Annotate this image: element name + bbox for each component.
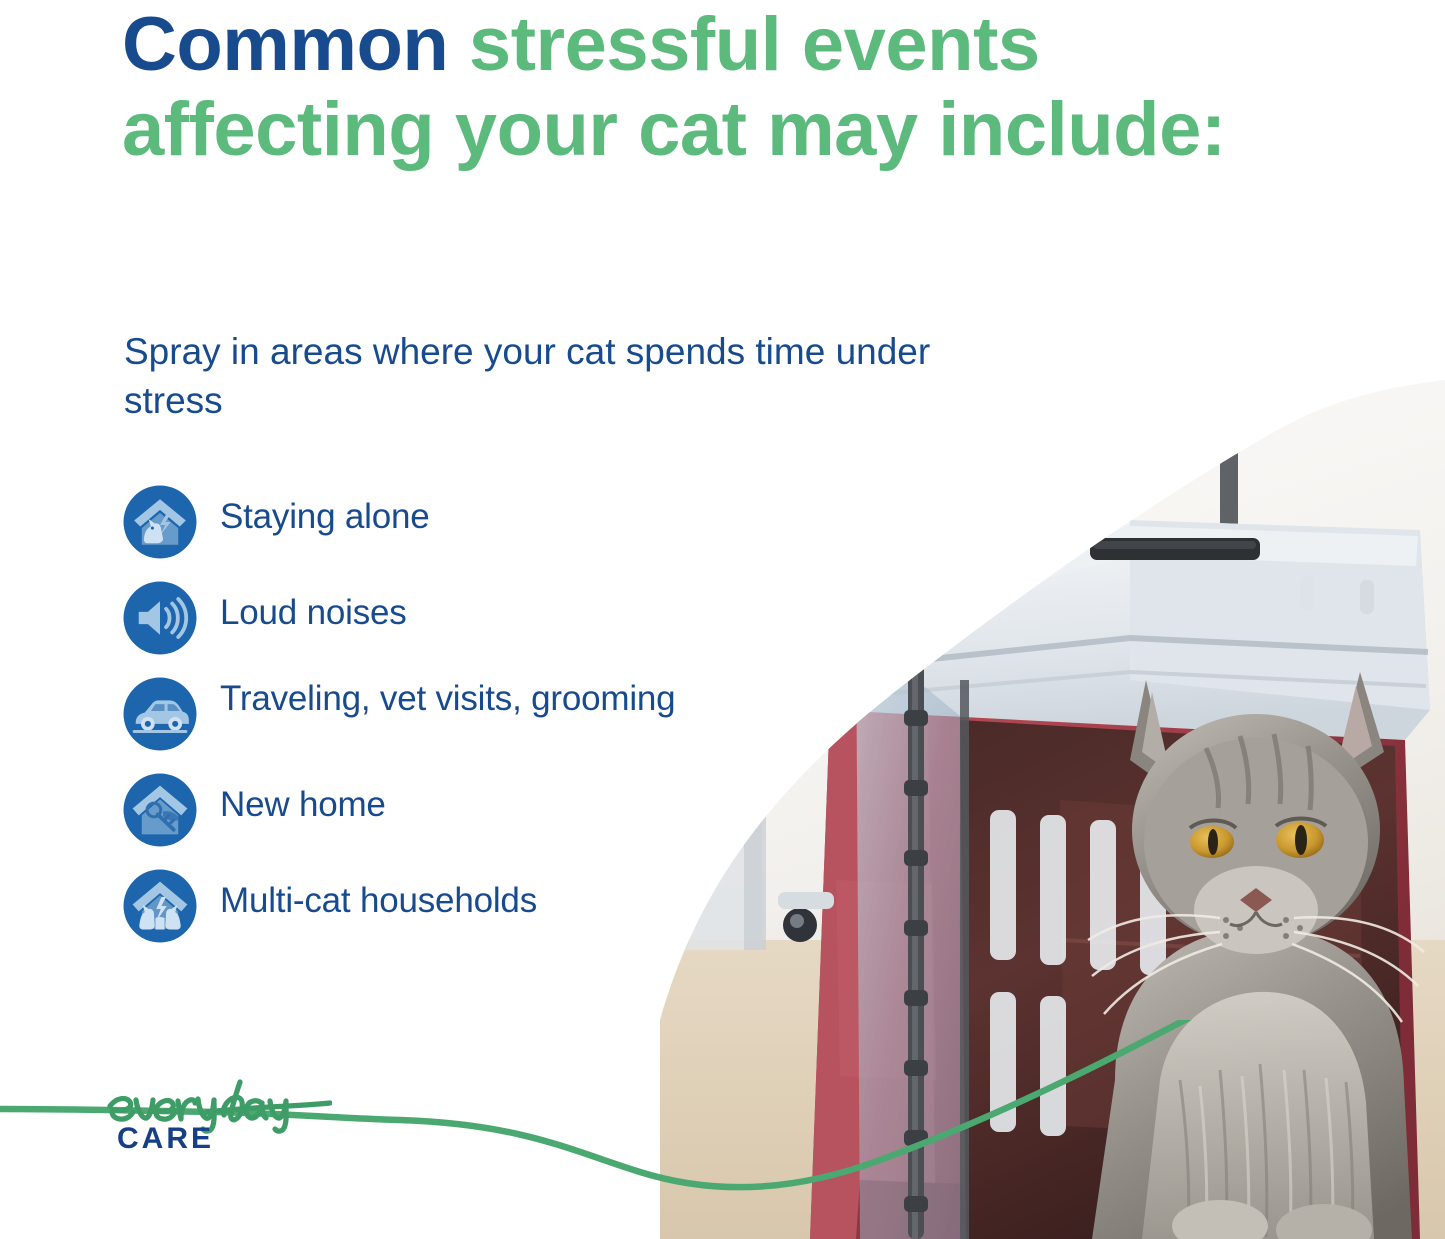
- car-icon: [122, 676, 198, 752]
- stress-events-list: Staying alone Loud noises: [122, 484, 722, 964]
- list-item: Loud noises: [122, 580, 722, 656]
- list-item-label: Staying alone: [220, 484, 430, 539]
- infographic-page: Common stressful events affecting your c…: [0, 0, 1445, 1239]
- care-wordmark: CARE: [117, 1122, 214, 1156]
- subheading: Spray in areas where your cat spends tim…: [124, 328, 1004, 426]
- list-item-label: Multi-cat households: [220, 868, 537, 923]
- page-title: Common stressful events affecting your c…: [122, 2, 1242, 172]
- list-item: Multi-cat households: [122, 868, 722, 944]
- cat-carrier-photo: [660, 380, 1445, 1239]
- house-cat-stress-icon: [122, 484, 198, 560]
- house-multi-cat-icon: [122, 868, 198, 944]
- brand-logo: CARE: [96, 1072, 336, 1168]
- headline-accent-word: Common: [122, 2, 448, 87]
- house-keys-icon: [122, 772, 198, 848]
- list-item-label: Traveling, vet visits, grooming: [220, 676, 675, 721]
- list-item-label: Loud noises: [220, 580, 407, 635]
- photo-illustration: [660, 380, 1445, 1239]
- list-item-label: New home: [220, 772, 386, 827]
- speaker-sound-icon: [122, 580, 198, 656]
- list-item: Staying alone: [122, 484, 722, 560]
- list-item: New home: [122, 772, 722, 848]
- list-item: Traveling, vet visits, grooming: [122, 676, 722, 752]
